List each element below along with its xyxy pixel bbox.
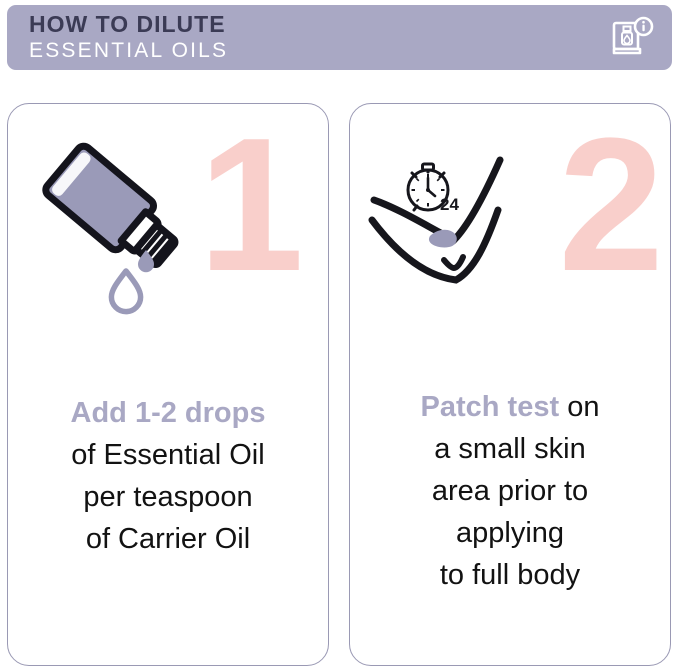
- step-number-1: 1: [198, 110, 300, 300]
- page-title: HOW TO DILUTE: [29, 11, 228, 37]
- tilted-dropper-bottle-with-drops-icon: [22, 132, 202, 317]
- step-2-line-1: a small skin: [356, 428, 664, 470]
- stopwatch-label: 24: [440, 195, 459, 214]
- header-text-block: HOW TO DILUTE ESSENTIAL OILS: [29, 11, 228, 64]
- step-2-line-4: to full body: [356, 554, 664, 596]
- step-1-line-3: of Carrier Oil: [14, 518, 322, 560]
- oil-bottle-info-icon: [610, 15, 656, 61]
- bent-arm-patch-test-with-stopwatch-icon: 24: [368, 148, 553, 298]
- page-subtitle: ESSENTIAL OILS: [29, 38, 228, 64]
- step-1-line-2: per teaspoon: [14, 476, 322, 518]
- header-banner: HOW TO DILUTE ESSENTIAL OILS: [7, 5, 672, 70]
- step-2-first-line: Patch test on: [356, 386, 664, 428]
- step-1-accent-phrase: Add 1-2 drops: [14, 392, 322, 434]
- step-2-accent-phrase: Patch test: [421, 391, 560, 423]
- step-card-2: 2: [349, 103, 671, 666]
- step-card-1: 1 Add 1-2 drops of Essential O: [7, 103, 329, 666]
- step-2-accent-trailing: on: [559, 391, 599, 423]
- step-2-line-2: area prior to: [356, 470, 664, 512]
- step-number-2: 2: [558, 110, 660, 300]
- step-1-line-1: of Essential Oil: [14, 434, 322, 476]
- step-1-text: Add 1-2 drops of Essential Oil per teasp…: [14, 392, 322, 560]
- step-2-line-3: applying: [356, 512, 664, 554]
- step-2-text: Patch test on a small skin area prior to…: [356, 386, 664, 596]
